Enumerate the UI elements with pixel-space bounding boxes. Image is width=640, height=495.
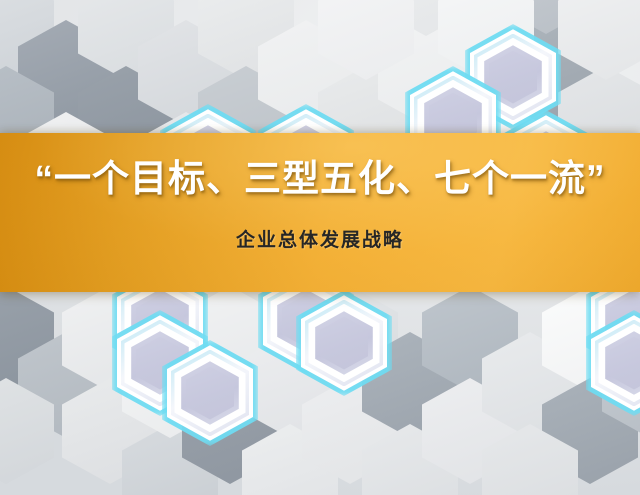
slide-title: “一个目标、三型五化、七个一流” xyxy=(0,159,640,199)
glowing-hexagon xyxy=(162,340,258,446)
title-banner: “一个目标、三型五化、七个一流” 企业总体发展战略 xyxy=(0,133,640,292)
presentation-slide: “一个目标、三型五化、七个一流” 企业总体发展战略 xyxy=(0,0,640,495)
glowing-hexagon xyxy=(296,290,392,396)
slide-subtitle: 企业总体发展战略 xyxy=(0,225,640,252)
banner-sheen xyxy=(0,133,640,292)
glowing-hexagon xyxy=(586,310,640,416)
